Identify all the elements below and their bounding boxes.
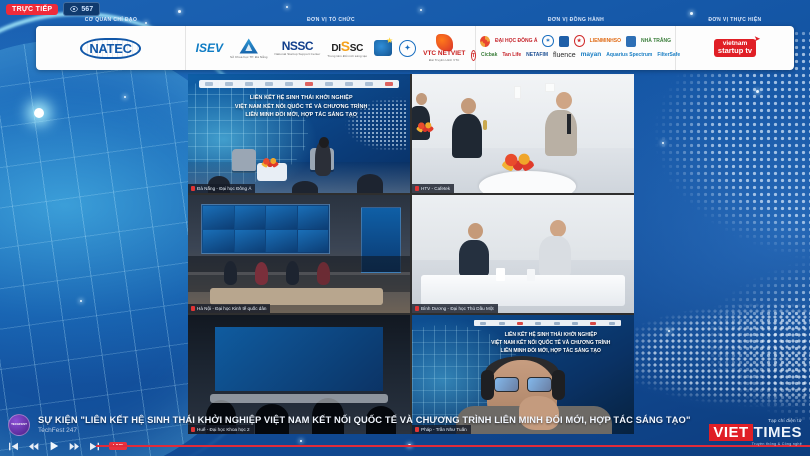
brand-name-accent: VIET — [709, 424, 752, 441]
logo-dtn: ✦ — [399, 40, 416, 57]
partner-square-icon — [559, 36, 569, 47]
rewind-button[interactable] — [28, 441, 39, 452]
fast-forward-icon — [69, 441, 80, 452]
stream-title: SỰ KIỆN "LIÊN KẾT HỆ SINH THÁI KHỞI NGHI… — [38, 414, 691, 425]
stage-event-title: LIÊN KẾT HỆ SINH THÁI KHỞI NGHIỆP VIỆT N… — [206, 94, 397, 119]
triangle-mark-icon — [239, 38, 259, 55]
sponsor-banner: CƠ QUAN CHỈ ĐẠO ĐƠN VỊ TỔ CHỨC ĐƠN VỊ ĐỒ… — [36, 14, 794, 70]
organizer-logos: ISEV Sở Khoa học TP. Đà Nẵng NSSC Nation… — [186, 26, 476, 70]
wall-panel — [545, 83, 555, 92]
directing-logos: NATEC — [36, 26, 186, 70]
virtual-background-logo-strip — [474, 320, 621, 326]
logo-spsd — [374, 40, 392, 56]
heading-partner-unit: ĐƠN VỊ ĐỒNG HÀNH — [476, 14, 676, 26]
audience-silhouette — [292, 181, 318, 193]
brand-eyebrow: Tạp chí điện tử — [709, 418, 802, 423]
video-tile-binhduong[interactable]: Bình Dương - Đại học Thủ Dầu Một — [412, 195, 634, 314]
star-badge-icon — [374, 40, 392, 56]
flower-arrangement — [501, 152, 535, 172]
mic-muted-icon — [415, 186, 419, 191]
panelist — [224, 261, 237, 285]
video-tile-danang[interactable]: LIÊN KẾT HỆ SINH THÁI KHỞI NGHIỆP VIỆT N… — [188, 74, 410, 193]
audience-silhouette — [357, 174, 383, 193]
logo-danang-university: Sở Khoa học TP. Đà Nẵng — [230, 38, 268, 59]
participant-head — [468, 223, 483, 239]
participant-label: Bình Dương - Đại học Thủ Dầu Một — [412, 304, 498, 313]
play-icon — [48, 440, 60, 452]
mic-muted-icon — [415, 306, 419, 311]
logo-digisc: DISSC Trung tâm Đổi mới sáng tạo — [327, 39, 367, 58]
partner-square-secondary-icon — [626, 36, 636, 47]
partner-logos-row-1: ĐẠI HỌC ĐÔNG Á ✶ ★ LIENMINHSO NHÀ TRẮNG — [480, 35, 671, 47]
microphone-icon — [483, 120, 487, 130]
logo-isev: ISEV — [196, 42, 223, 54]
player-info: TECHFEST SỰ KIỆN "LIÊN KẾT HỆ SINH THÁI … — [8, 414, 670, 436]
room-wall — [412, 195, 634, 260]
panelist — [255, 262, 268, 285]
participant-head — [550, 220, 566, 237]
flower-mark-icon — [480, 36, 490, 47]
video-tile-htv-cafetek[interactable]: HTV - Cafetek — [412, 74, 634, 193]
participant-name: HTV - Cafetek — [421, 184, 450, 193]
club-emblem-icon: ★ — [574, 35, 585, 47]
speaker-head — [461, 98, 476, 114]
publisher-brand: Tạp chí điện tử VIET TIMES Truyền thông … — [709, 418, 802, 446]
logo-natec: NATEC — [80, 38, 140, 59]
logo-vtc-netviet: VTC NETVIET Đài Truyền Hình VTC — [423, 34, 465, 62]
speaker-body — [452, 114, 482, 158]
stage-backdrop: LIÊN KẾT HỆ SINH THÁI KHỞI NGHIỆP VIỆT N… — [188, 74, 410, 193]
chair — [232, 149, 256, 171]
eye-icon — [70, 5, 78, 13]
brand-wordmark: VIET TIMES — [709, 424, 802, 441]
participant-name: Đà Nẵng - Đại học Đông Á — [197, 184, 251, 193]
seat-row — [188, 256, 410, 271]
vtc-mark-icon — [436, 34, 453, 51]
participant-body — [539, 236, 571, 276]
stage-logo-strip — [199, 80, 399, 88]
circle-emblem-icon: ✦ — [399, 40, 416, 57]
wall-panel — [514, 86, 521, 99]
university-emblem-icon: ✶ — [542, 35, 553, 47]
room-wall — [412, 74, 634, 148]
mic-muted-icon — [191, 186, 195, 191]
necktie — [567, 114, 571, 134]
play-button[interactable] — [48, 440, 60, 452]
mic-muted-icon — [191, 306, 195, 311]
player-text-block: SỰ KIỆN "LIÊN KẾT HỆ SINH THÁI KHỞI NGHI… — [38, 414, 691, 434]
partner-logos-row-2: T Cicbak Tan Life NETAFIM fluence mayan … — [480, 50, 671, 61]
brand-name-rest: TIMES — [754, 424, 802, 441]
participant-body — [459, 240, 489, 276]
sponsor-banner-headings: CƠ QUAN CHỈ ĐẠO ĐƠN VỊ TỔ CHỨC ĐƠN VỊ ĐỒ… — [36, 14, 794, 26]
logo-vietnam-startup-tv: vietnam startup tv — [714, 39, 756, 58]
interview-room-scene — [412, 74, 634, 193]
live-stream-page: TRỰC TIẾP 567 CƠ QUAN CHỈ ĐẠO ĐƠN VỊ TỔ … — [0, 0, 810, 456]
viewer-count-value: 567 — [81, 6, 93, 13]
live-badge: TRỰC TIẾP — [6, 4, 58, 15]
host-body — [545, 110, 577, 156]
water-bottle — [527, 269, 535, 281]
viewer-count-badge: 567 — [63, 2, 100, 16]
headphone-left-icon — [481, 370, 494, 400]
host-head — [556, 92, 572, 109]
fast-forward-button[interactable] — [69, 441, 80, 452]
boardroom-scene — [412, 195, 634, 314]
participant-label: Hà Nội - Đại học Kinh tế quốc dân — [188, 304, 270, 313]
panelist — [286, 261, 299, 285]
avatar-label: TECHFEST — [11, 423, 27, 426]
brand-tagline: Truyền thông & Công nghệ — [709, 442, 802, 446]
round-table — [479, 171, 577, 192]
panel-table — [210, 288, 383, 305]
channel-avatar[interactable]: TECHFEST — [8, 414, 30, 436]
producer-logos: vietnam startup tv — [676, 26, 794, 70]
video-tile-hanoi[interactable]: Hà Nội - Đại học Kinh tế quốc dân — [188, 195, 410, 314]
skip-to-start-button[interactable] — [8, 441, 19, 452]
rewind-icon — [28, 441, 39, 452]
panel-table — [210, 394, 388, 403]
participant-name: Bình Dương - Đại học Thủ Dầu Một — [421, 304, 494, 313]
logo-nssc: NSSC National Startup Support Center — [275, 40, 321, 56]
video-wall — [201, 204, 330, 254]
sponsor-logo-strip: NATEC ISEV Sở Khoa học TP. Đà Nẵng NSSC … — [36, 26, 794, 70]
speaker-head — [319, 137, 329, 148]
stage-screen — [215, 327, 384, 391]
heading-organizing-unit: ĐƠN VỊ TỔ CHỨC — [186, 14, 476, 26]
participant-name: Hà Nội - Đại học Kinh tế quốc dân — [197, 304, 266, 313]
water-bottle — [496, 268, 505, 281]
participant-label: Đà Nẵng - Đại học Đông Á — [188, 184, 255, 193]
tdt-emblem-icon: T — [471, 50, 476, 61]
heading-producing-unit: ĐƠN VỊ THỰC HIỆN — [676, 14, 794, 26]
participant-label: HTV - Cafetek — [412, 184, 454, 193]
glasses-icon — [494, 377, 552, 392]
panelist — [317, 262, 330, 285]
virtual-background-title: LIÊN KẾT HỆ SINH THÁI KHỞI NGHIỆP VIỆT N… — [479, 331, 623, 355]
player-bottom-bar: TECHFEST SỰ KIỆN "LIÊN KẾT HỆ SINH THÁI … — [0, 408, 810, 456]
skip-back-icon — [8, 441, 19, 452]
video-conference-grid: LIÊN KẾT HỆ SINH THÁI KHỞI NGHIỆP VIỆT N… — [188, 74, 634, 434]
stream-status-bar: TRỰC TIẾP 567 — [0, 0, 106, 18]
seek-bar[interactable] — [96, 445, 810, 447]
partner-logos: ĐẠI HỌC ĐÔNG Á ✶ ★ LIENMINHSO NHÀ TRẮNG … — [476, 26, 676, 70]
headphone-right-icon — [552, 370, 565, 400]
meeting-table — [421, 275, 625, 306]
channel-name: TechFest 247 — [38, 427, 691, 434]
conference-hall-scene — [188, 195, 410, 314]
